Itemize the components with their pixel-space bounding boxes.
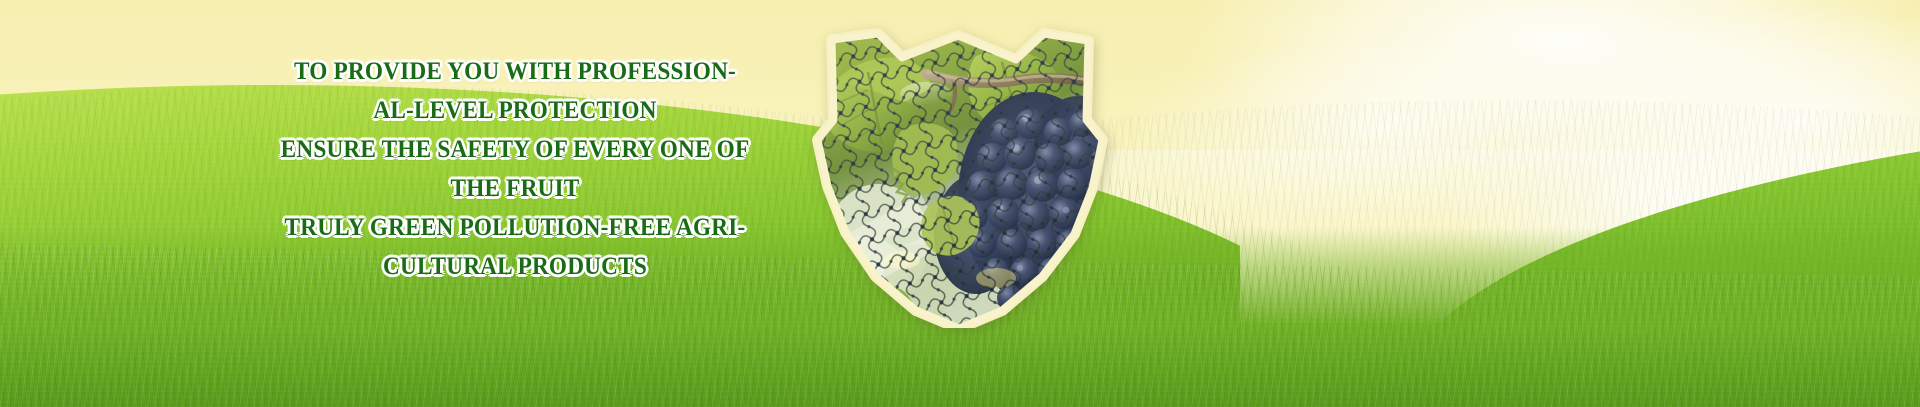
shield-emblem [806,28,1112,328]
copy-line-2: AL-LEVEL PROTECTION [269,91,762,130]
shield-icon [806,28,1112,328]
headline-copy: TO PROVIDE YOU WITH PROFESSION- AL-LEVEL… [250,52,780,286]
copy-line-4: THE FRUIT [269,169,762,208]
promo-banner: TO PROVIDE YOU WITH PROFESSION- AL-LEVEL… [0,0,1920,407]
copy-line-1: TO PROVIDE YOU WITH PROFESSION- [269,52,762,91]
copy-line-3: ENSURE THE SAFETY OF EVERY ONE OF [269,130,762,169]
copy-line-6: CULTURAL PRODUCTS [269,247,762,286]
copy-line-5: TRULY GREEN POLLUTION-FREE AGRI- [269,208,762,247]
shield-photo [806,28,1112,328]
